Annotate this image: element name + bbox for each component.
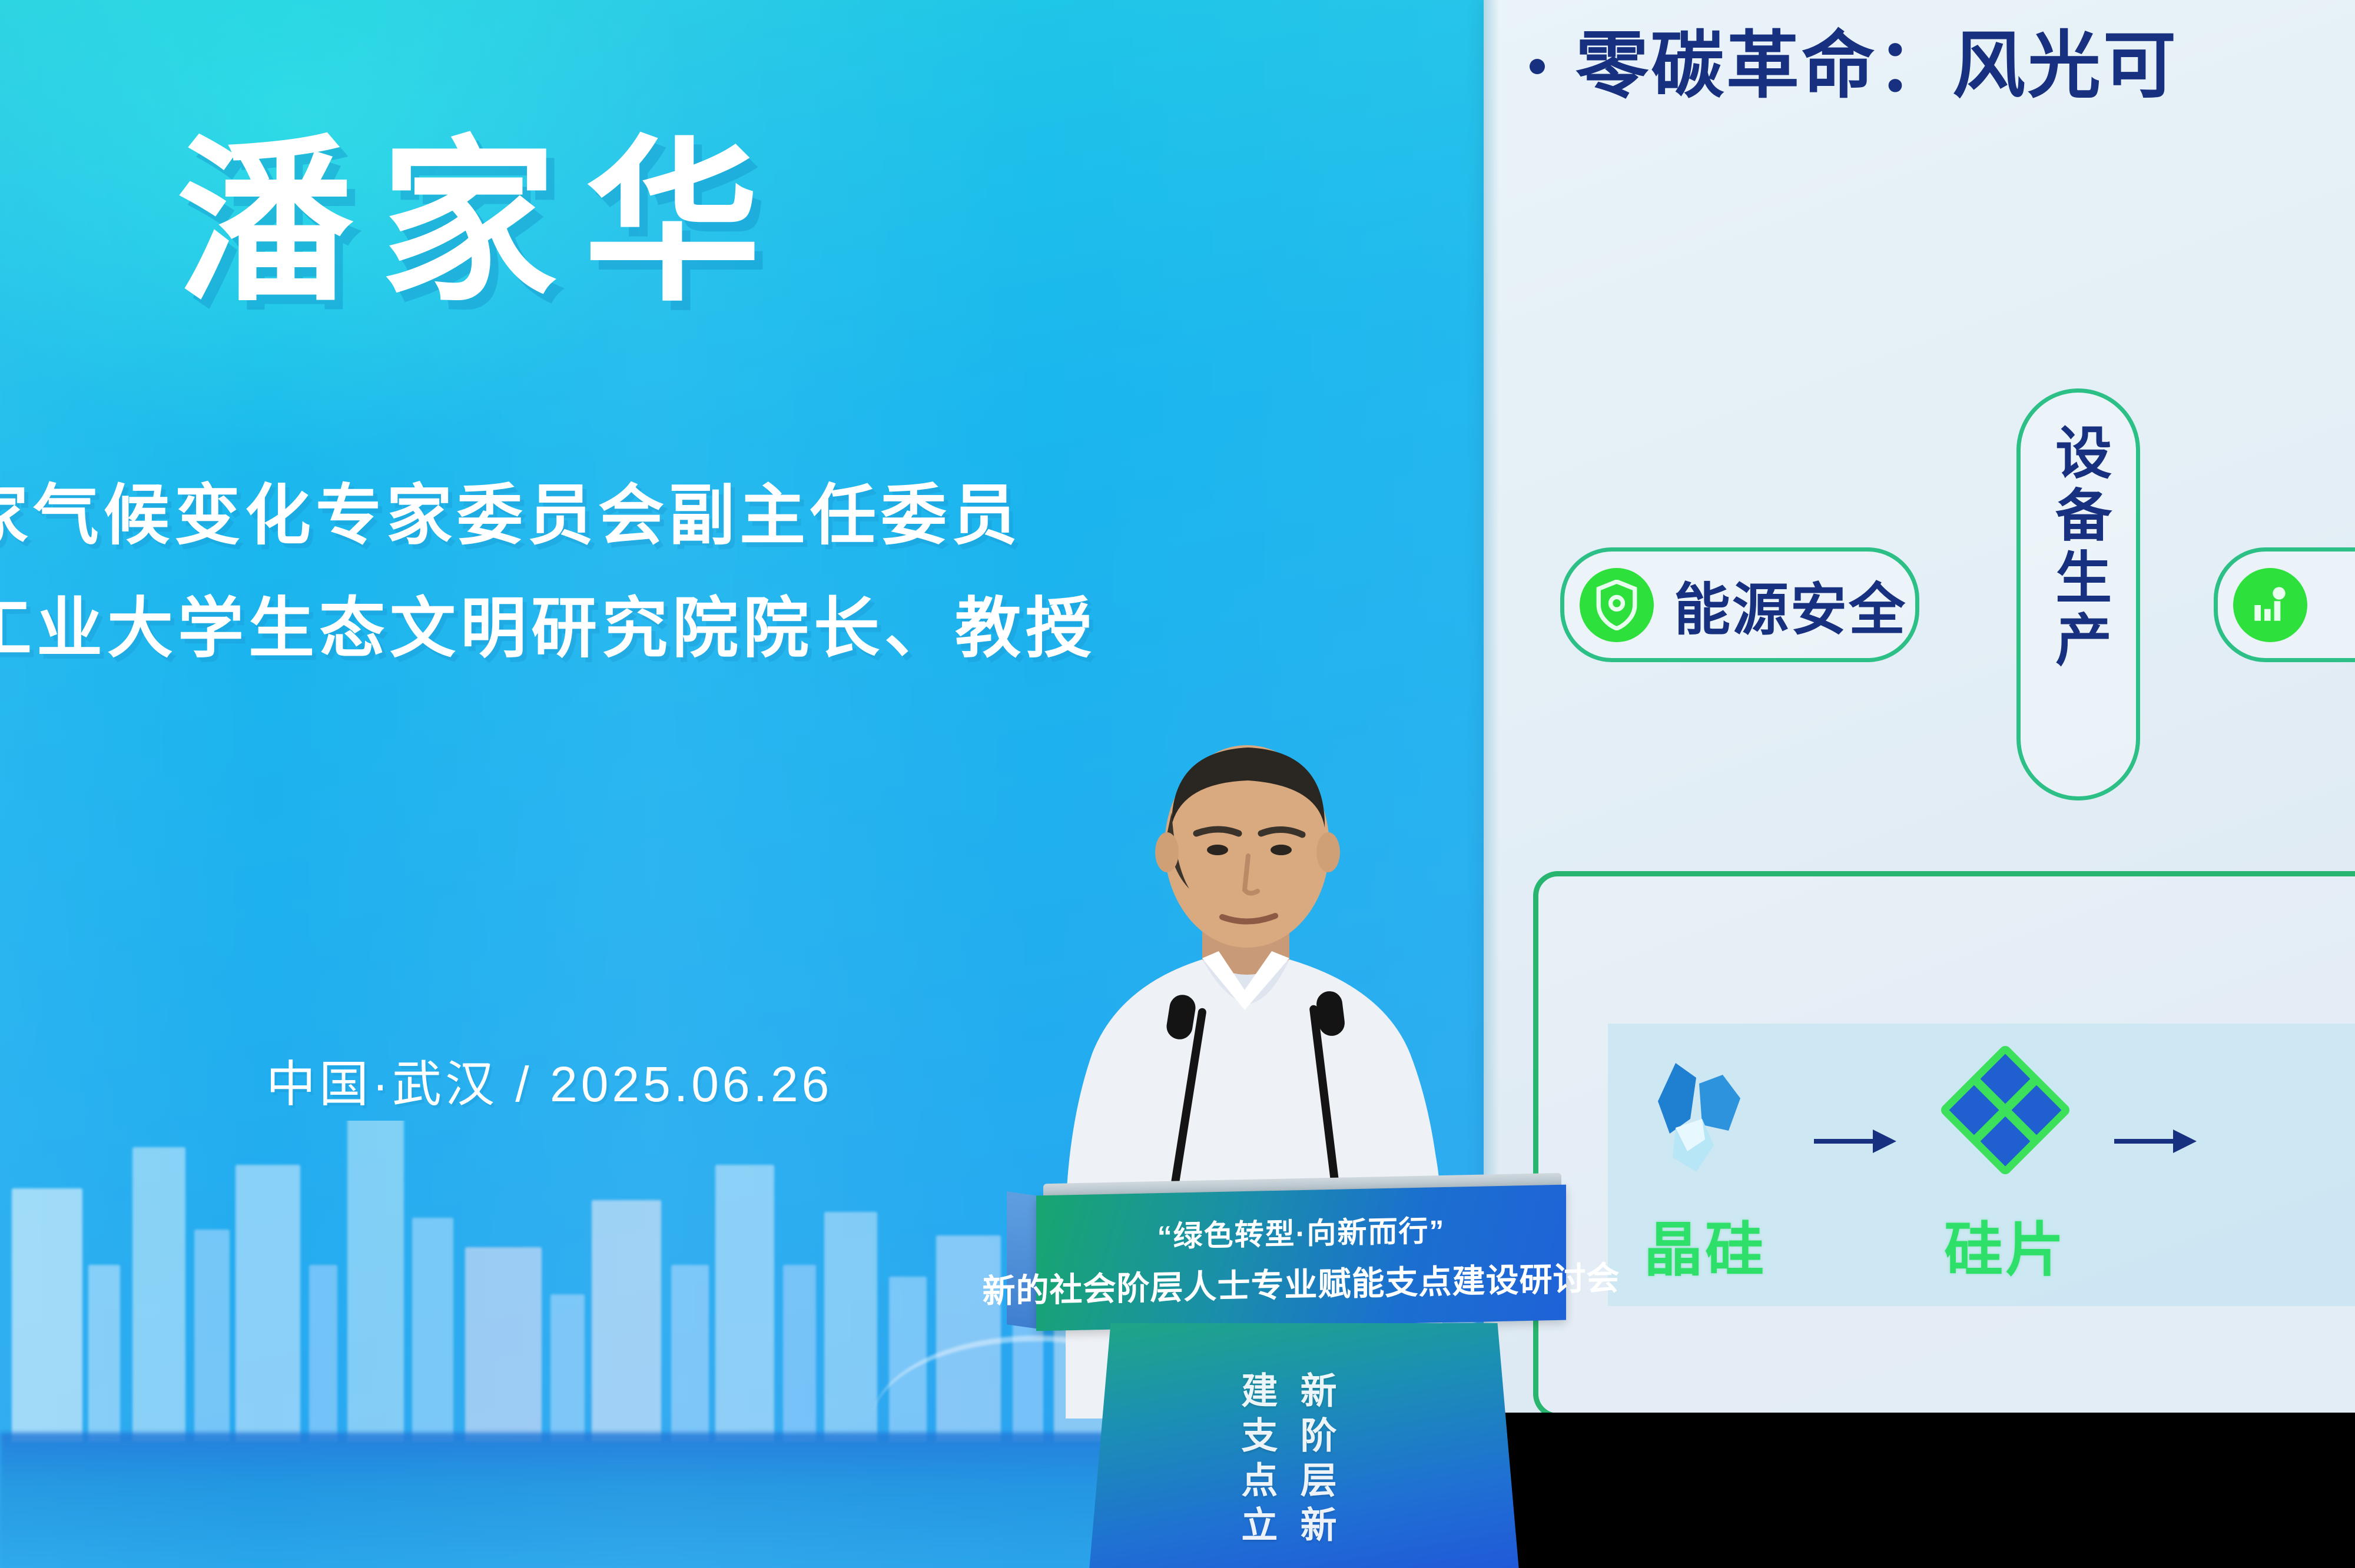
bar-chart-icon bbox=[2233, 568, 2307, 642]
badge-chart[interactable] bbox=[2214, 547, 2355, 662]
podium: “绿色转型·向新而行” 新的社会阶层人士专业赋能支点建设研讨会 建支点立 新阶层… bbox=[1001, 1177, 1596, 1568]
flow-arrow-1 bbox=[1802, 1125, 1908, 1158]
speaker-title-line-1: 家气候变化专家委员会副主任委员 bbox=[0, 483, 1022, 549]
podium-vertical-col-left: 建支点立 bbox=[1230, 1371, 1280, 1550]
podium-banner-line-2: 新的社会阶层人士专业赋能支点建设研讨会 bbox=[983, 1251, 1620, 1313]
badge-equipment-production-label: 设备生产 bbox=[2045, 423, 2111, 673]
projection-screen: 零碳革命：风光可 能源安全 设备生产 bbox=[1484, 0, 2355, 1413]
speaker-title-line-2: 工业大学生态文明研究院院长、教授 bbox=[0, 596, 1096, 662]
podium-vertical-slogan: 建支点立 新阶层新 bbox=[1230, 1371, 1339, 1550]
badge-energy-security[interactable]: 能源安全 bbox=[1560, 547, 1919, 662]
flow-step-silicon-wafer: 硅片 bbox=[1908, 1042, 2102, 1287]
flow-step-crystalline-silicon: 晶硅 bbox=[1608, 1042, 1802, 1287]
slide-bullet-text: 零碳革命：风光可 bbox=[1575, 26, 2178, 106]
podium-banner: “绿色转型·向新而行” 新的社会阶层人士专业赋能支点建设研讨会 bbox=[1036, 1185, 1566, 1331]
stage-photo: 潘家华 家气候变化专家委员会副主任委员 工业大学生态文明研究院院长、教授 中国·… bbox=[0, 0, 2355, 1568]
badge-equipment-production[interactable]: 设备生产 bbox=[2016, 388, 2140, 800]
flow-step-silicon-wafer-label: 硅片 bbox=[1944, 1202, 2067, 1287]
silicon-rock-icon bbox=[1631, 1042, 1779, 1187]
bullet-dot-icon bbox=[1530, 59, 1545, 74]
shield-icon bbox=[1580, 568, 1654, 642]
flow-diagram-card: 晶硅 bbox=[1533, 871, 2355, 1413]
flow-diagram-strip: 晶硅 bbox=[1608, 1024, 2355, 1306]
silicon-wafer-icon bbox=[1932, 1042, 2079, 1187]
podium-vertical-col-right: 新阶层新 bbox=[1289, 1371, 1339, 1550]
badge-energy-security-label: 能源安全 bbox=[1674, 564, 1907, 646]
flow-step-crystalline-silicon-label: 晶硅 bbox=[1644, 1202, 1766, 1287]
speaker-name-title: 潘家华 bbox=[177, 134, 788, 311]
slide-bullet-line: 零碳革命：风光可 bbox=[1530, 26, 2354, 106]
flow-arrow-2 bbox=[2102, 1125, 2208, 1158]
podium-banner-line-1: “绿色转型·向新而行” bbox=[1157, 1207, 1445, 1255]
place-and-date: 中国·武汉 / 2025.06.26 bbox=[266, 1059, 832, 1109]
